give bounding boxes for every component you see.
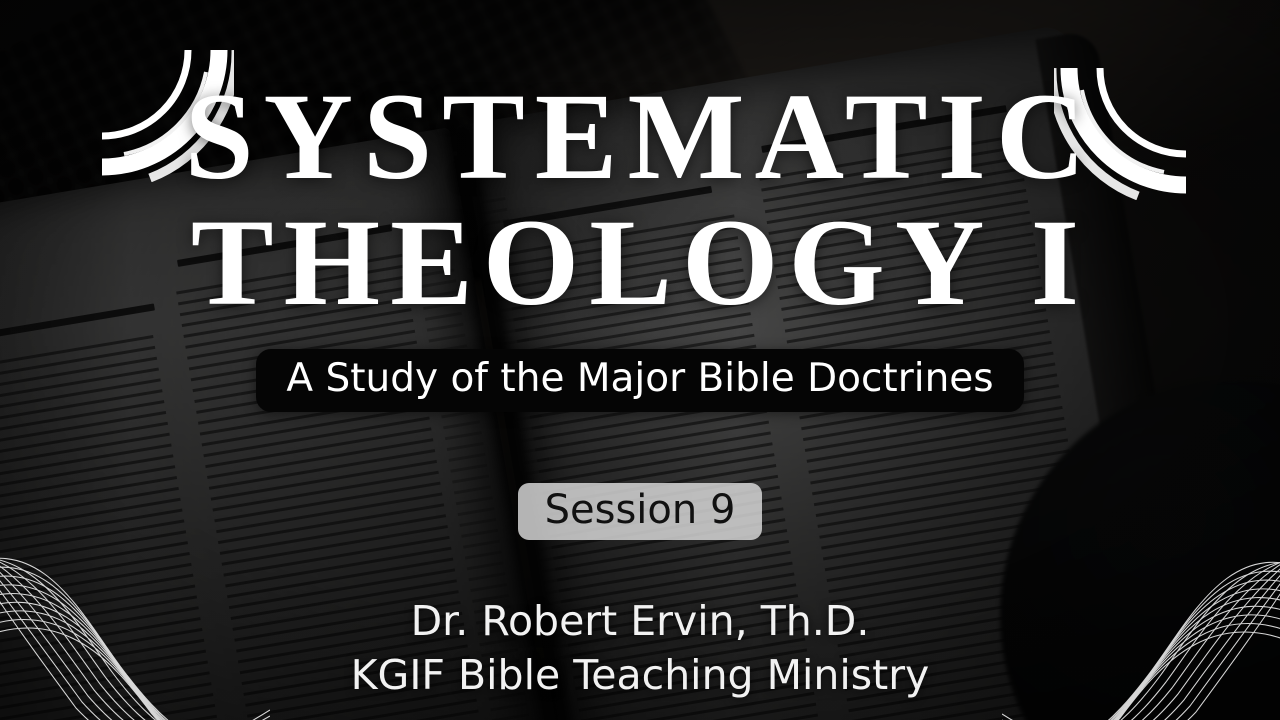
presenter-name: Dr. Robert Ervin, Th.D. bbox=[351, 594, 930, 648]
session-badge: Session 9 bbox=[518, 483, 763, 540]
presentation-slide: SYSTEMATIC THEOLOGY I A Study of the Maj… bbox=[0, 0, 1280, 720]
subtitle-text: A Study of the Major Bible Doctrines bbox=[286, 358, 993, 400]
subtitle-banner: A Study of the Major Bible Doctrines bbox=[256, 349, 1023, 412]
presenter-organization: KGIF Bible Teaching Ministry bbox=[351, 648, 930, 702]
title-line-1: SYSTEMATIC bbox=[185, 68, 1096, 205]
presenter-block: Dr. Robert Ervin, Th.D. KGIF Bible Teach… bbox=[351, 594, 930, 702]
slide-content: SYSTEMATIC THEOLOGY I A Study of the Maj… bbox=[0, 0, 1280, 720]
title-line-2: THEOLOGY I bbox=[191, 194, 1089, 331]
session-label: Session 9 bbox=[545, 488, 736, 532]
page-title: SYSTEMATIC THEOLOGY I bbox=[185, 0, 1096, 327]
